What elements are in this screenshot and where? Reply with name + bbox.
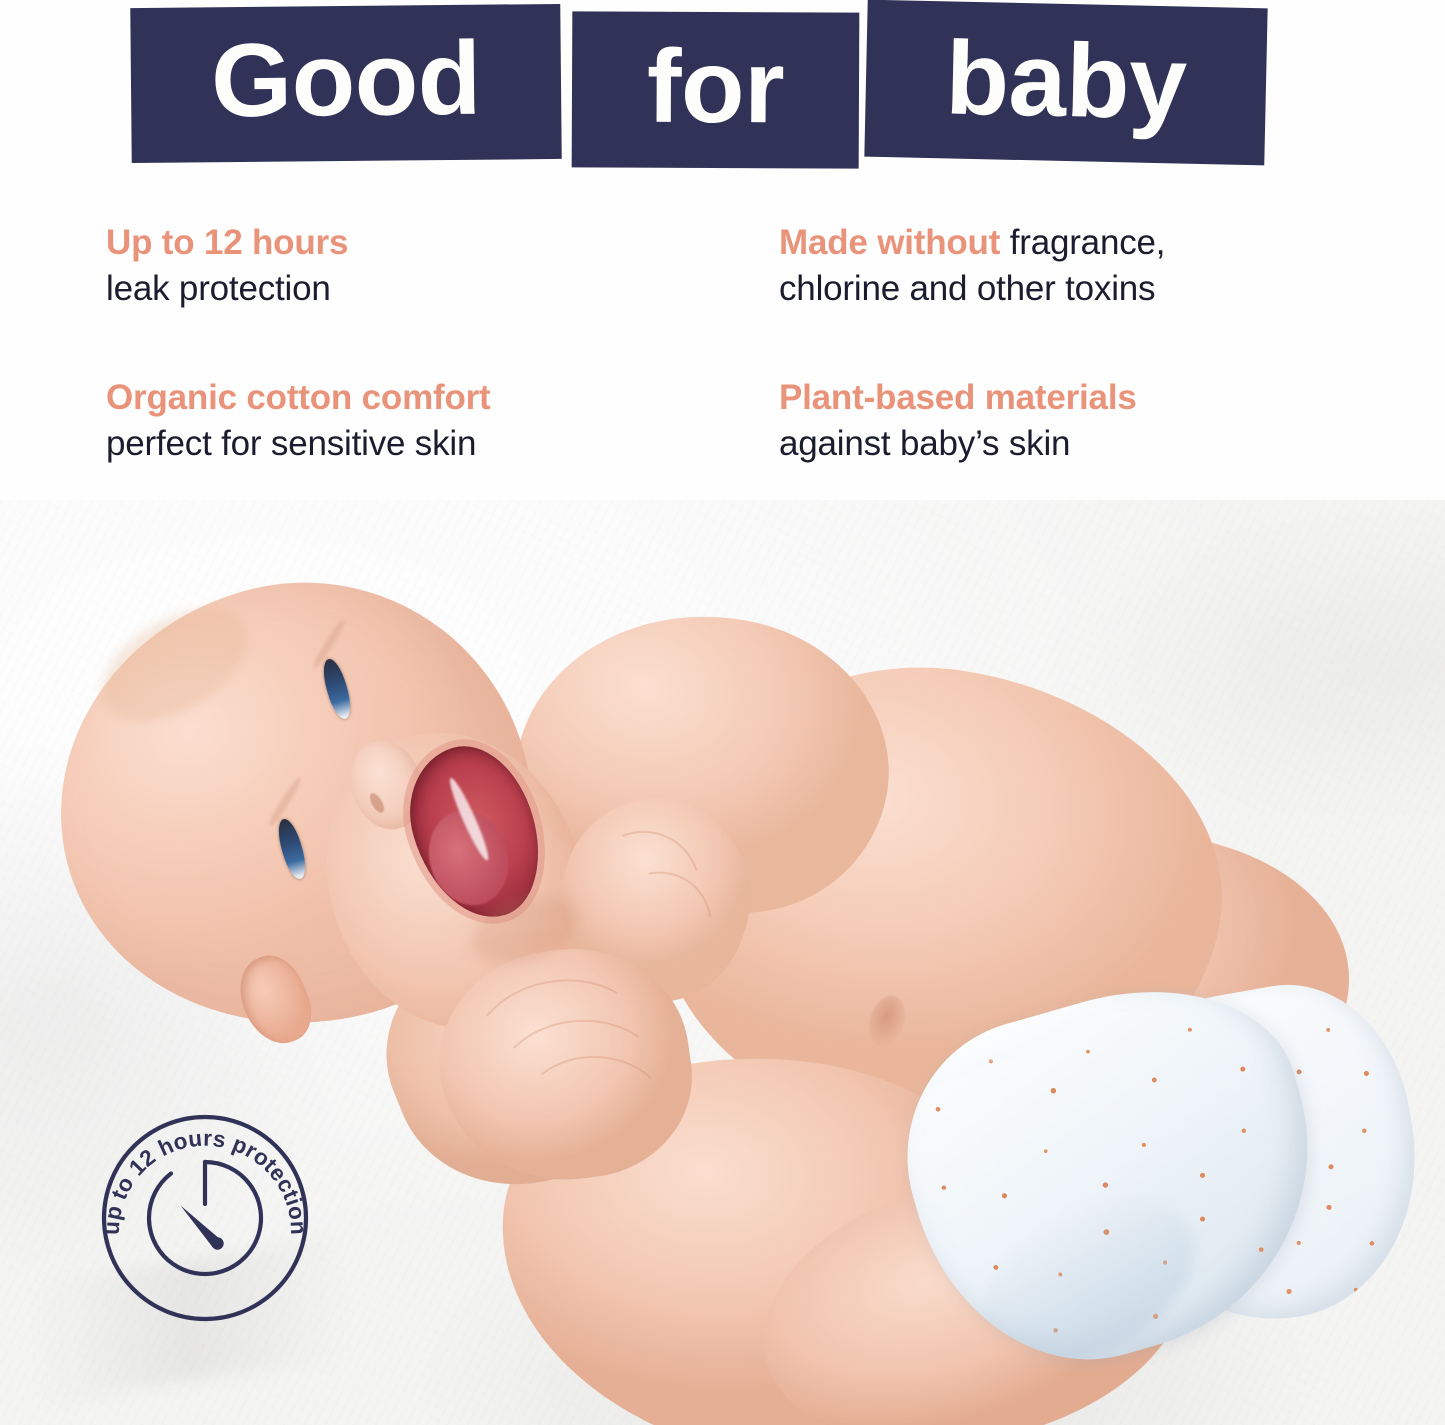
headline-banner: Good for baby [0,0,1445,190]
feature-item-leak-protection: Up to 12 hoursleak protection [106,220,706,311]
feature-subtitle: chlorine and other toxins [779,269,1155,308]
feature-text: Plant-based materialsagainst baby’s skin [779,375,1399,466]
feature-highlight: Organic cotton comfort [106,378,491,417]
headline-tag-good: Good [130,4,561,163]
feature-subtitle: leak protection [106,269,331,308]
feature-highlight: Plant-based materials [779,378,1137,417]
feature-highlight: Made without [779,223,1000,262]
headline-tag-baby: baby [864,0,1267,165]
headline-tag-baby-label: baby [945,26,1188,135]
product-feature-graphic: Good for baby Up to 12 hoursleak protect… [0,0,1445,1425]
feature-subtitle: against baby’s skin [779,424,1070,463]
feature-subtitle: perfect for sensitive skin [106,424,476,463]
feature-text: Organic cotton comfortperfect for sensit… [106,375,726,466]
feature-list: Up to 12 hoursleak protection Made witho… [0,210,1445,500]
headline-tag-for-label: for [647,35,785,140]
feature-rest: fragrance, [1000,223,1165,262]
badge-clock-hand-tip [211,1237,223,1249]
headline-tag-good-label: Good [211,26,481,133]
feature-item-organic-cotton: Organic cotton comfortperfect for sensit… [106,375,726,466]
feature-text: Made without fragrance,chlorine and othe… [779,220,1379,311]
feature-highlight: Up to 12 hours [106,223,348,262]
headline-tag-for: for [572,11,860,168]
protection-badge: up to 12 hours protection [100,1113,310,1323]
feature-text: Up to 12 hoursleak protection [106,220,706,311]
feature-item-plant-based: Plant-based materialsagainst baby’s skin [779,375,1399,466]
feature-item-made-without: Made without fragrance,chlorine and othe… [779,220,1379,311]
